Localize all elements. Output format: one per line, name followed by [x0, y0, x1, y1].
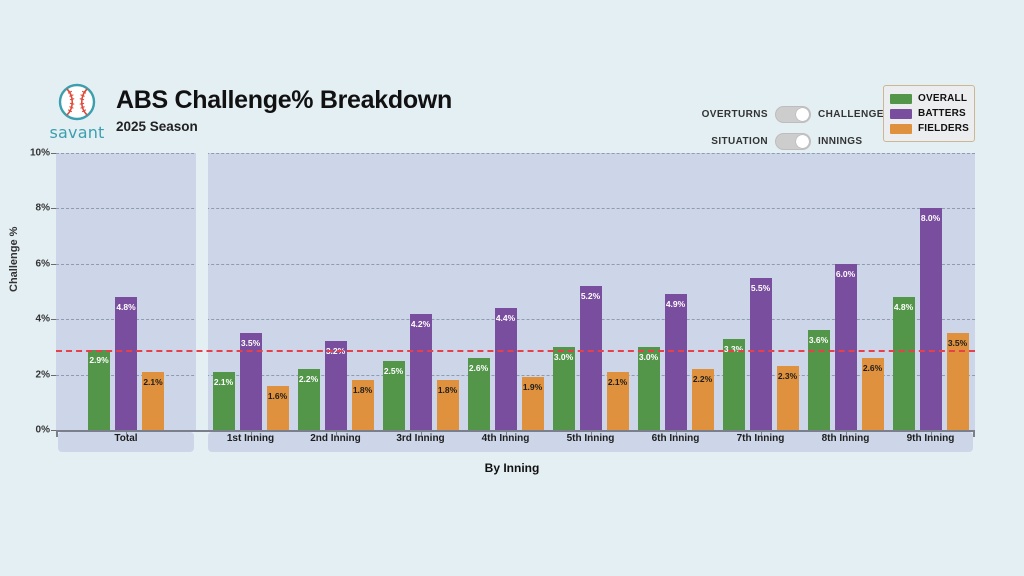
bar-value-label: 2.1%: [143, 377, 162, 387]
legend-label-batters: BATTERS: [918, 108, 966, 119]
y-axis-tick-label: 0%: [36, 425, 50, 436]
legend-swatch-fielders: [890, 124, 912, 134]
bar-value-label: 2.1%: [608, 377, 627, 387]
bar-fielders-1st-inning[interactable]: 1.6%: [267, 386, 289, 430]
toggle-label-situation: SITUATION: [700, 136, 768, 147]
bar-value-label: 3.3%: [724, 344, 743, 354]
x-axis-title: By Inning: [0, 461, 1024, 475]
y-axis-tick: [51, 319, 56, 320]
bar-overall-6th-inning[interactable]: 3.0%: [638, 347, 660, 430]
chart-header: savant ABS Challenge% Breakdown 2025 Sea…: [48, 82, 452, 142]
legend-label-overall: OVERALL: [918, 93, 967, 104]
bar-value-label: 4.2%: [411, 319, 430, 329]
bar-overall-total[interactable]: 2.9%: [88, 350, 110, 430]
baseball-icon: [57, 82, 97, 122]
bar-batters-3rd-inning[interactable]: 4.2%: [410, 314, 432, 430]
y-axis-tick-label: 8%: [36, 203, 50, 214]
gridline: [56, 153, 975, 154]
bar-batters-1st-inning[interactable]: 3.5%: [240, 333, 262, 430]
bar-value-label: 2.1%: [214, 377, 233, 387]
bar-overall-7th-inning[interactable]: 3.3%: [723, 339, 745, 430]
x-axis-tick: [931, 430, 932, 436]
x-axis-tick: [761, 430, 762, 436]
bar-value-label: 3.5%: [241, 338, 260, 348]
y-axis-tick-label: 4%: [36, 314, 50, 325]
bar-batters-4th-inning[interactable]: 4.4%: [495, 308, 517, 430]
bar-overall-8th-inning[interactable]: 3.6%: [808, 330, 830, 430]
x-axis-tick: [336, 430, 337, 436]
toggle-controls: OVERTURNS CHALLENGES SITUATION INNINGS: [700, 103, 891, 157]
bar-overall-3rd-inning[interactable]: 2.5%: [383, 361, 405, 430]
bar-value-label: 1.8%: [353, 385, 372, 395]
toggle-row-overturns-challenges: OVERTURNS CHALLENGES: [700, 103, 891, 125]
y-axis-tick-label: 6%: [36, 258, 50, 269]
toggle-knob: [796, 135, 809, 148]
bar-value-label: 2.6%: [469, 363, 488, 373]
bar-value-label: 4.9%: [666, 299, 685, 309]
bar-value-label: 2.2%: [299, 374, 318, 384]
savant-logo: savant: [48, 82, 106, 142]
legend-swatch-batters: [890, 109, 912, 119]
bar-overall-5th-inning[interactable]: 3.0%: [553, 347, 575, 430]
toggle-knob: [796, 108, 809, 121]
legend-item-fielders[interactable]: FIELDERS: [890, 121, 968, 136]
bar-value-label: 3.6%: [809, 335, 828, 345]
bar-value-label: 1.6%: [268, 391, 287, 401]
bar-value-label: 4.8%: [894, 302, 913, 312]
x-axis-tick: [591, 430, 592, 436]
plot-area: 0%2%4%6%8%10%2.9%4.8%2.1%2.1%3.5%1.6%2.2…: [56, 153, 975, 430]
bar-value-label: 3.0%: [554, 352, 573, 362]
legend-item-batters[interactable]: BATTERS: [890, 106, 968, 121]
bar-fielders-8th-inning[interactable]: 2.6%: [862, 358, 884, 430]
y-axis-tick-label: 10%: [30, 148, 50, 159]
legend-item-overall[interactable]: OVERALL: [890, 91, 968, 106]
title-block: ABS Challenge% Breakdown 2025 Season: [116, 82, 452, 134]
y-axis-tick: [51, 208, 56, 209]
gridline: [56, 208, 975, 209]
x-axis-tick: [506, 430, 507, 436]
toggle-label-overturns: OVERTURNS: [700, 109, 768, 120]
reference-line: [56, 350, 975, 352]
page-subtitle: 2025 Season: [116, 119, 452, 134]
bar-batters-9th-inning[interactable]: 8.0%: [920, 208, 942, 430]
toggle-overturns-challenges[interactable]: [775, 106, 811, 123]
bar-fielders-total[interactable]: 2.1%: [142, 372, 164, 430]
bar-overall-1st-inning[interactable]: 2.1%: [213, 372, 235, 430]
bar-value-label: 6.0%: [836, 269, 855, 279]
bar-batters-6th-inning[interactable]: 4.9%: [665, 294, 687, 430]
bar-fielders-6th-inning[interactable]: 2.2%: [692, 369, 714, 430]
page-title: ABS Challenge% Breakdown: [116, 86, 452, 115]
y-axis-tick: [51, 375, 56, 376]
bar-batters-2nd-inning[interactable]: 3.2%: [325, 341, 347, 430]
bar-value-label: 5.5%: [751, 283, 770, 293]
bar-value-label: 4.4%: [496, 313, 515, 323]
bar-batters-8th-inning[interactable]: 6.0%: [835, 264, 857, 430]
legend-label-fielders: FIELDERS: [918, 123, 969, 134]
bar-fielders-9th-inning[interactable]: 3.5%: [947, 333, 969, 430]
bar-fielders-5th-inning[interactable]: 2.1%: [607, 372, 629, 430]
bar-fielders-2nd-inning[interactable]: 1.8%: [352, 380, 374, 430]
bar-value-label: 1.9%: [523, 382, 542, 392]
chart-legend: OVERALL BATTERS FIELDERS: [883, 85, 975, 142]
bar-value-label: 2.5%: [384, 366, 403, 376]
x-axis-cap-right: [973, 430, 975, 437]
toggle-label-innings: INNINGS: [818, 136, 862, 147]
legend-swatch-overall: [890, 94, 912, 104]
savant-wordmark: savant: [49, 123, 104, 142]
bar-fielders-3rd-inning[interactable]: 1.8%: [437, 380, 459, 430]
bar-value-label: 2.9%: [89, 355, 108, 365]
bar-fielders-4th-inning[interactable]: 1.9%: [522, 377, 544, 430]
bar-value-label: 1.8%: [438, 385, 457, 395]
toggle-label-challenges: CHALLENGES: [818, 109, 891, 120]
bar-value-label: 3.5%: [948, 338, 967, 348]
bar-value-label: 2.3%: [778, 371, 797, 381]
y-axis-tick: [51, 264, 56, 265]
bar-overall-9th-inning[interactable]: 4.8%: [893, 297, 915, 430]
x-axis-tick: [421, 430, 422, 436]
bar-value-label: 5.2%: [581, 291, 600, 301]
bar-overall-4th-inning[interactable]: 2.6%: [468, 358, 490, 430]
bar-value-label: 4.8%: [116, 302, 135, 312]
bar-batters-7th-inning[interactable]: 5.5%: [750, 278, 772, 430]
bar-value-label: 8.0%: [921, 213, 940, 223]
x-axis-tick: [846, 430, 847, 436]
chart-page: savant ABS Challenge% Breakdown 2025 Sea…: [0, 0, 1024, 576]
bar-value-label: 3.0%: [639, 352, 658, 362]
toggle-situation-innings[interactable]: [775, 133, 811, 150]
group-separator: [196, 153, 208, 430]
bar-value-label: 2.6%: [863, 363, 882, 373]
y-axis-title: Challenge %: [8, 227, 20, 292]
y-axis-tick: [51, 153, 56, 154]
bar-value-label: 2.2%: [693, 374, 712, 384]
bar-batters-total[interactable]: 4.8%: [115, 297, 137, 430]
toggle-row-situation-innings: SITUATION INNINGS: [700, 130, 891, 152]
x-axis-tick: [126, 430, 127, 436]
bar-fielders-7th-inning[interactable]: 2.3%: [777, 366, 799, 430]
bar-overall-2nd-inning[interactable]: 2.2%: [298, 369, 320, 430]
x-axis-tick: [676, 430, 677, 436]
y-axis-tick-label: 2%: [36, 369, 50, 380]
bar-batters-5th-inning[interactable]: 5.2%: [580, 286, 602, 430]
x-axis-tick: [251, 430, 252, 436]
